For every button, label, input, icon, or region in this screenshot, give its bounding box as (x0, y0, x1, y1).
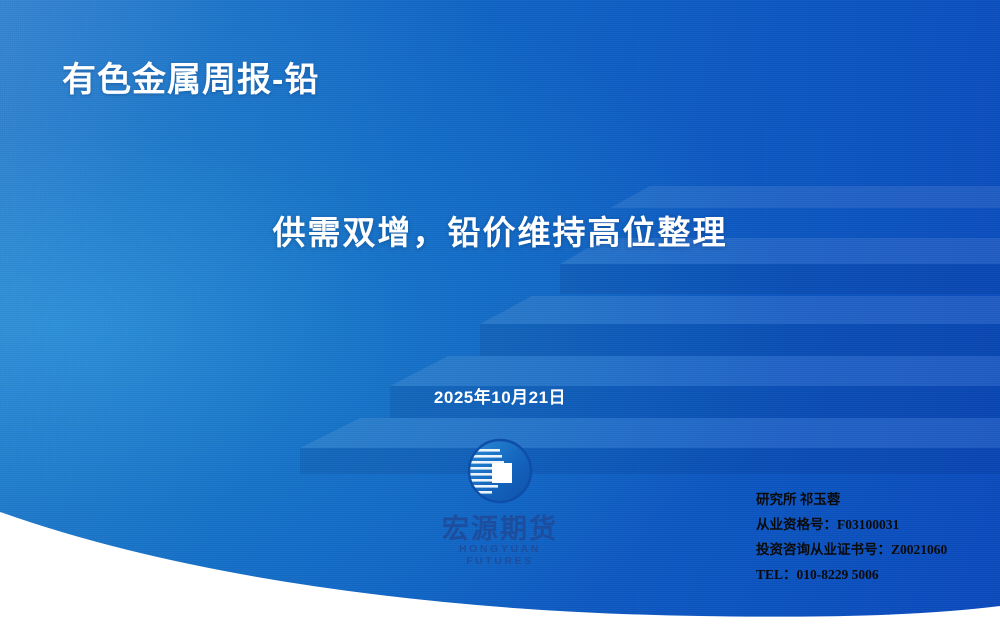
page-title: 有色金属周报-铅 (62, 52, 319, 101)
report-cover-page: 有色金属周报-铅 供需双增，铅价维持高位整理 2025年10月21日 (0, 0, 1000, 625)
contact-block: 研究所 祁玉蓉 从业资格号：F03100031 投资咨询从业证书号：Z00210… (756, 487, 992, 587)
main-heading: 供需双增，铅价维持高位整理 (0, 206, 1000, 254)
analyst-name: 研究所 祁玉蓉 (756, 487, 992, 512)
logo-company-name-cn: 宏源期货 (424, 507, 576, 546)
company-logo: 宏源期货 HONGYUAN FUTURES (424, 437, 576, 567)
hongyuan-circle-logo-icon (466, 437, 534, 505)
logo-company-name-en: HONGYUAN FUTURES (424, 543, 576, 567)
telephone-number: TEL：010-8229 5006 (756, 562, 992, 587)
publication-date: 2025年10月21日 (0, 383, 1000, 408)
qualification-number: 从业资格号：F03100031 (756, 512, 992, 537)
certificate-number: 投资咨询从业证书号：Z0021060 (756, 537, 992, 562)
